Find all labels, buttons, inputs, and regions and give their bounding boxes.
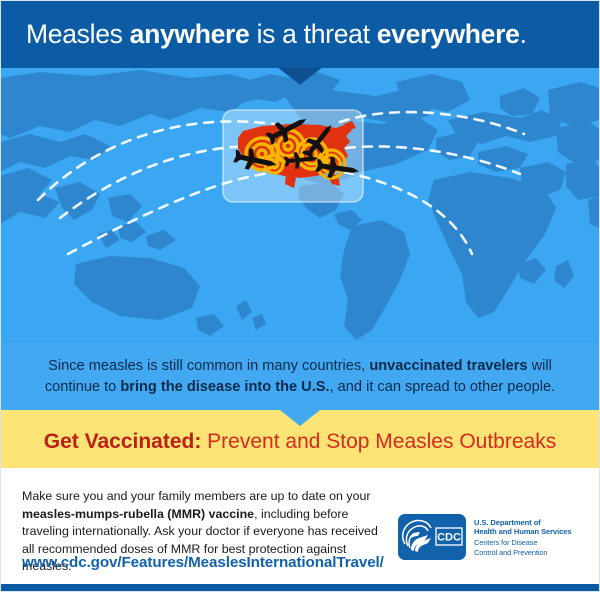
logo-line-1: U.S. Department of [474,518,572,528]
hhs-bird-and-cdc-icon: CDC [398,514,466,560]
logo-line-2: Health and Human Services [474,527,572,537]
title-period: . [520,19,527,49]
cta-notch-arrow [280,410,320,426]
svg-text:CDC: CDC [437,532,461,544]
cdc-wordmark-icon: CDC [436,528,462,545]
hhs-logo-text: U.S. Department of Health and Human Serv… [474,517,572,557]
us-inset-card [223,110,363,202]
footer-segment-1: Make sure you and your family members ar… [22,489,371,503]
infographic-poster: Measles anywhere is a threat everywhere. [0,0,600,592]
page-title: Measles anywhere is a threat everywhere. [26,19,527,50]
cta-headline-bold: Get Vaccinated: [44,430,202,453]
intro-segment-3: , and it can spread to other people. [330,379,556,395]
intro-text-band: Since measles is still common in many co… [0,343,600,410]
header-banner: Measles anywhere is a threat everywhere. [0,0,600,68]
hhs-logo-mark: CDC [398,514,466,560]
title-bold-everywhere: everywhere [377,19,520,49]
title-bold-anywhere: anywhere [130,19,250,49]
header-notch-arrow-inner [280,68,320,83]
title-segment-2: is a threat [250,19,377,49]
cdc-url-link[interactable]: www.cdc.gov/Features/MeaslesInternationa… [22,554,384,571]
intro-paragraph: Since measles is still common in many co… [22,356,578,398]
intro-bold-travelers: unvaccinated travelers [369,358,527,374]
intro-segment-1: Since measles is still common in many co… [48,358,369,374]
intro-bold-disease: bring the disease into the U.S. [120,379,329,395]
world-map-svg [0,68,600,343]
logo-line-3: Centers for Disease [474,538,572,548]
title-segment-1: Measles [26,19,130,49]
cta-headline: Get Vaccinated: Prevent and Stop Measles… [44,424,556,454]
cdc-hhs-logo[interactable]: CDC U.S. Department of Health and Human … [398,514,572,560]
cta-headline-rest: Prevent and Stop Measles Outbreaks [201,430,556,453]
world-map-panel [0,68,600,343]
footer-bold-mmr: measles-mumps-rubella (MMR) vaccine [22,507,254,521]
hhs-bird-body [410,532,431,552]
bottom-accent-bar [0,584,600,592]
logo-line-4: Control and Prevention [474,548,572,558]
